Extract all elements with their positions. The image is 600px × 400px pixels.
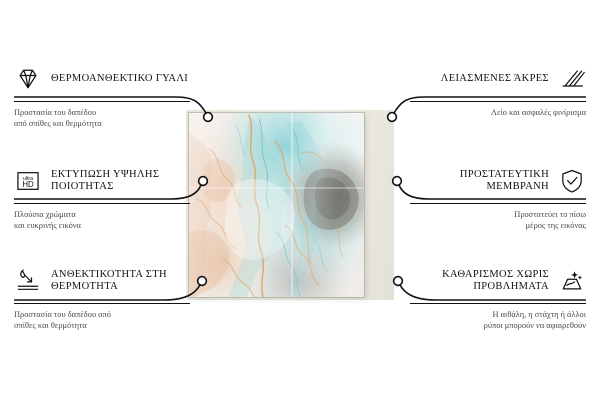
feature-head: ΚΑΘΑΡΙΣΜΟΣ ΧΩΡΙΣ ΠΡΟΒΛΗΜΑΤΑ <box>410 264 586 298</box>
feature-high-quality-print: ultra HD ΕΚΤΥΠΩΣΗ ΥΨΗΛΗΣ ΠΟΙΟΤΗΤΑΣ Πλούσ… <box>14 164 190 231</box>
heat-resistance-icon <box>14 267 42 295</box>
feature-title: ΚΑΘΑΡΙΣΜΟΣ ΧΩΡΙΣ ΠΡΟΒΛΗΜΑΤΑ <box>410 269 549 294</box>
svg-text:HD: HD <box>22 180 34 189</box>
feature-description-line1: Η αιθάλη, η στάχτη ή άλλοι <box>410 310 586 321</box>
feature-divider <box>14 101 190 102</box>
feature-description-line1: Προστασία του δαπέδου <box>14 108 190 119</box>
feature-description: Προστατεύει το πίσω μέρος της εικόνας <box>410 210 586 231</box>
feature-divider <box>14 203 190 204</box>
feature-description: Η αιθάλη, η στάχτη ή άλλοι ρύποι μπορούν… <box>410 310 586 331</box>
feature-description-line2: μέρος της εικόνας <box>410 221 586 232</box>
feature-divider <box>410 203 586 204</box>
feature-protective-film: ΠΡΟΣΤΑΤΕΥΤΙΚΗ ΜΕΜΒΡΑΝΗ Προστατεύει το πί… <box>410 164 586 231</box>
feature-heat-resistant-glass: ΘΕΡΜΟΑΝΘΕΚΤΙΚΟ ΓΥΑΛΙ Προστασία του δαπέδ… <box>14 62 190 129</box>
feature-title: ΘΕΡΜΟΑΝΘΕΚΤΙΚΟ ΓΥΑΛΙ <box>51 73 190 86</box>
feature-head: ultra HD ΕΚΤΥΠΩΣΗ ΥΨΗΛΗΣ ΠΟΙΟΤΗΤΑΣ <box>14 164 190 198</box>
feature-description: Προστασία του δαπέδου από σπίθες και θερ… <box>14 310 190 331</box>
infographic-stage: ΘΕΡΜΟΑΝΘΕΚΤΙΚΟ ΓΥΑΛΙ Προστασία του δαπέδ… <box>0 0 600 400</box>
feature-description-line2: σπίθες και θερμότητα <box>14 321 190 332</box>
feature-easy-cleaning: ΚΑΘΑΡΙΣΜΟΣ ΧΩΡΙΣ ΠΡΟΒΛΗΜΑΤΑ Η αιθάλη, η … <box>410 264 586 331</box>
feature-divider <box>410 303 586 304</box>
feature-description-line2: από σπίθες και θερμότητα <box>14 119 190 130</box>
feature-head: ΑΝΘΕΚΤΙΚΟΤΗΤΑ ΣΤΗ ΘΕΡΜΟΤΗΤΑ <box>14 264 190 298</box>
feature-title: ΠΡΟΣΤΑΤΕΥΤΙΚΗ ΜΕΜΒΡΑΝΗ <box>410 169 549 194</box>
feature-head: ΘΕΡΜΟΑΝΘΕΚΤΙΚΟ ΓΥΑΛΙ <box>14 62 190 96</box>
connector-dot <box>394 277 403 286</box>
reflection-mullion-horizontal <box>189 187 364 189</box>
polished-edges-icon <box>558 65 586 93</box>
feature-head: ΛΕΙΑΣΜΕΝΕΣ ΆΚΡΕΣ <box>410 62 586 96</box>
product-glass-panel <box>189 113 364 297</box>
diamond-icon <box>14 65 42 93</box>
feature-description-line2: ρύποι μπορούν να αφαιρεθούν <box>410 321 586 332</box>
feature-description-line1: Προστασία του δαπέδου από <box>14 310 190 321</box>
feature-description: Λείο και ασφαλές φινίρισμα <box>410 108 586 119</box>
feature-description-line1: Πλούσια χρώματα <box>14 210 190 221</box>
feature-divider <box>410 101 586 102</box>
feature-description: Προστασία του δαπέδου από σπίθες και θερ… <box>14 108 190 129</box>
feature-divider <box>14 303 190 304</box>
feature-description: Πλούσια χρώματα και ευκρινής εικόνα <box>14 210 190 231</box>
feature-title: ΑΝΘΕΚΤΙΚΟΤΗΤΑ ΣΤΗ ΘΕΡΜΟΤΗΤΑ <box>51 269 190 294</box>
feature-polished-edges: ΛΕΙΑΣΜΕΝΕΣ ΆΚΡΕΣ Λείο και ασφαλές φινίρι… <box>410 62 586 119</box>
feature-title: ΛΕΙΑΣΜΕΝΕΣ ΆΚΡΕΣ <box>410 73 549 86</box>
reflection-mullion-vertical <box>291 113 293 297</box>
feature-description-line1: Προστατεύει το πίσω <box>410 210 586 221</box>
feature-heat-resistance: ΑΝΘΕΚΤΙΚΟΤΗΤΑ ΣΤΗ ΘΕΡΜΟΤΗΤΑ Προστασία το… <box>14 264 190 331</box>
easy-clean-icon <box>558 267 586 295</box>
marble-artwork <box>189 113 364 297</box>
ultra-hd-icon: ultra HD <box>14 167 42 195</box>
feature-title: ΕΚΤΥΠΩΣΗ ΥΨΗΛΗΣ ΠΟΙΟΤΗΤΑΣ <box>51 169 190 194</box>
shield-check-icon <box>558 167 586 195</box>
feature-description-line2: και ευκρινής εικόνα <box>14 221 190 232</box>
feature-description-line1: Λείο και ασφαλές φινίρισμα <box>410 108 586 119</box>
feature-head: ΠΡΟΣΤΑΤΕΥΤΙΚΗ ΜΕΜΒΡΑΝΗ <box>410 164 586 198</box>
